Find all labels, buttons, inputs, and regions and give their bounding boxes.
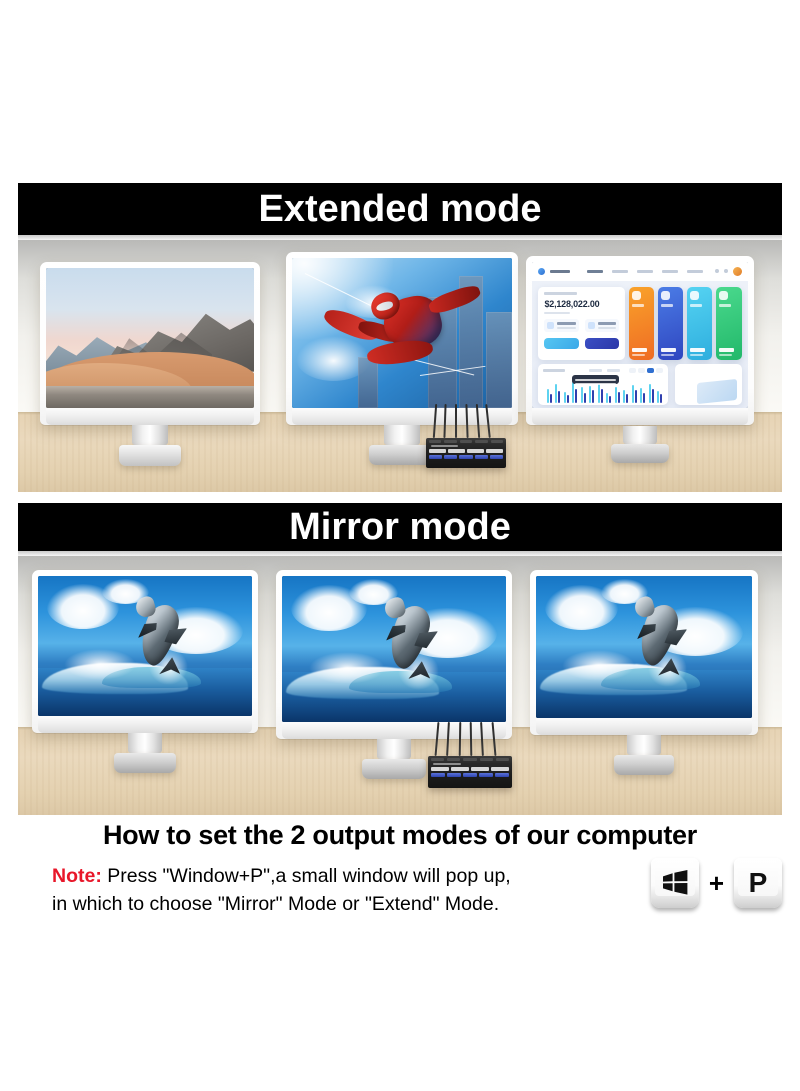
- monitor-mirror-3: [530, 570, 758, 735]
- monitor-extended-2: [286, 252, 518, 425]
- dashboard-logo-icon: [538, 268, 545, 275]
- banner-extended-mode: Extended mode: [18, 183, 782, 235]
- bell-icon[interactable]: [724, 269, 728, 273]
- dock-brand-label: [433, 763, 461, 765]
- balance-subtext: [544, 312, 569, 314]
- dock-cables: [432, 404, 499, 438]
- docking-station-mirror: [428, 756, 512, 788]
- docking-station-extended: [426, 438, 506, 468]
- nav-item-4[interactable]: [662, 270, 678, 273]
- scene-extended-mode: $2,128,022.00: [18, 240, 782, 492]
- dashboard-bar-chart: [538, 364, 668, 405]
- monitor-neck: [132, 425, 168, 445]
- chart-title: [543, 369, 565, 372]
- dashboard-topbar: [532, 262, 748, 281]
- monitor-foot: [114, 753, 176, 773]
- windows-key: [651, 858, 699, 908]
- monitor-foot: [614, 755, 674, 775]
- windows-logo-icon: [661, 870, 689, 896]
- nav-item-3[interactable]: [637, 270, 653, 273]
- monitor-neck: [623, 426, 657, 444]
- stat-card-1: [544, 319, 578, 332]
- banner-extended-label: Extended mode: [259, 190, 542, 228]
- stat-card-2: [585, 319, 619, 332]
- nav-item-5[interactable]: [687, 270, 703, 273]
- dock-usb-ports: [431, 773, 509, 777]
- monitor-neck: [627, 735, 661, 755]
- monitor-extended-3: $2,128,022.00: [526, 256, 754, 425]
- dock-front-ports: [429, 449, 503, 453]
- monitor-chin: [38, 716, 252, 733]
- monitor-mirror-1: [32, 570, 258, 733]
- scene-mirror-mode: [18, 556, 782, 815]
- monitor-neck: [384, 425, 420, 445]
- note-text-1: Press "Window+P",a small window will pop…: [102, 865, 511, 887]
- balance-amount: $2,128,022.00: [544, 299, 618, 309]
- monitor-neck: [377, 739, 411, 759]
- monitor-extended-1: [40, 262, 260, 425]
- avatar[interactable]: [733, 267, 742, 276]
- dashboard-tiles: [629, 287, 741, 360]
- monitor-chin: [532, 408, 748, 425]
- monitor-chin: [46, 408, 254, 425]
- page-headline: How to set the 2 output modes of our com…: [0, 820, 800, 851]
- dashboard-balance-card: $2,128,022.00: [538, 287, 624, 360]
- primary-action-button[interactable]: [544, 338, 578, 349]
- note-line-1: Note: Press "Window+P",a small window wi…: [52, 862, 572, 890]
- tile-orange[interactable]: [629, 287, 654, 360]
- screen-spiderman-wallpaper: [292, 258, 512, 408]
- monitor-foot: [119, 445, 181, 466]
- screen-dolphin-wallpaper-3: [536, 576, 752, 718]
- stat-2-icon: [588, 322, 595, 329]
- chart-range-toggle[interactable]: [629, 368, 663, 373]
- dock-cables: [435, 722, 506, 756]
- note-line-2: in which to choose "Mirror" Mode or "Ext…: [52, 890, 572, 918]
- screen-dashboard-wallpaper: $2,128,022.00: [532, 262, 748, 408]
- banner-mirror-mode: Mirror mode: [18, 503, 782, 551]
- monitor-chin: [536, 718, 752, 735]
- tile-blue[interactable]: [658, 287, 683, 360]
- chart-tooltip: [572, 375, 619, 384]
- tile-green[interactable]: [716, 287, 741, 360]
- tile-cyan[interactable]: [687, 287, 712, 360]
- nav-item-dashboard[interactable]: [587, 270, 603, 273]
- screen-dolphin-wallpaper-1: [38, 576, 252, 716]
- monitor-neck: [128, 733, 162, 753]
- dashboard-side-card: [675, 364, 742, 405]
- infographic-page: Extended mode: [0, 0, 800, 1091]
- search-icon[interactable]: [715, 269, 719, 273]
- monitor-foot: [362, 759, 426, 779]
- screen-dolphin-wallpaper-2: [282, 576, 506, 722]
- dashboard-logo-text: [550, 270, 570, 273]
- side-card-illustration: [697, 379, 737, 404]
- secondary-action-button[interactable]: [585, 338, 619, 349]
- banner-mirror-label: Mirror mode: [289, 508, 511, 546]
- chart-legend: [589, 369, 620, 372]
- plus-separator: +: [709, 868, 724, 899]
- monitor-mirror-2: [276, 570, 512, 739]
- note-label: Note:: [52, 865, 102, 887]
- dashboard-nav[interactable]: [587, 270, 703, 273]
- dock-brand-label: [431, 445, 458, 447]
- note-block: Note: Press "Window+P",a small window wi…: [52, 862, 572, 919]
- p-key: P: [734, 858, 782, 908]
- p-key-label: P: [749, 869, 768, 897]
- screen-mountain-wallpaper: [46, 268, 254, 408]
- monitor-foot: [611, 444, 669, 463]
- balance-card-label: [544, 292, 577, 295]
- nav-item-2[interactable]: [612, 270, 628, 273]
- dock-front-ports: [431, 767, 509, 771]
- dock-usb-ports: [429, 455, 503, 459]
- keyboard-shortcut: + P: [651, 858, 782, 908]
- stat-1-icon: [547, 322, 554, 329]
